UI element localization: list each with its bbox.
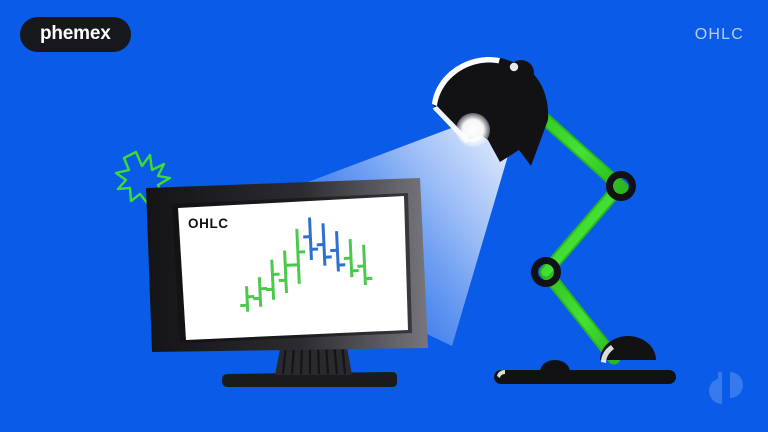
corner-ohlc-caption: OHLC [695, 26, 744, 44]
ohlc-range-line [272, 260, 274, 300]
illustration-canvas: OHLC [0, 0, 768, 432]
ohlc-range-line [285, 251, 287, 293]
ohlc-range-line [310, 218, 312, 260]
screen-label: OHLC [188, 216, 229, 231]
ohlc-range-line [247, 286, 248, 311]
scene-svg: OHLC [0, 0, 768, 432]
phemex-logo: phemex [20, 17, 131, 52]
lamp-bulb [456, 113, 490, 147]
ohlc-range-line [259, 277, 260, 307]
